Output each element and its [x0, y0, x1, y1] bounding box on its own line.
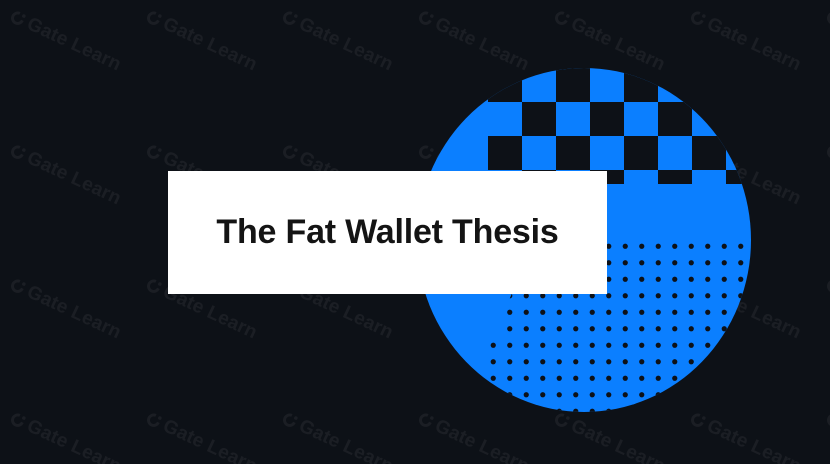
watermark-label: Gate Learn: [568, 14, 668, 74]
watermark-tile: Gate Learn: [414, 408, 532, 464]
watermark-label: Gate Learn: [704, 14, 804, 74]
page-title: The Fat Wallet Thesis: [216, 214, 558, 251]
gate-logo-icon: [414, 409, 437, 432]
watermark-label: Gate Learn: [24, 14, 124, 74]
title-card: The Fat Wallet Thesis: [168, 171, 607, 294]
watermark-tile: Gate Learn: [6, 140, 124, 208]
gate-logo-icon: [142, 275, 165, 298]
gate-logo-icon: [278, 141, 301, 164]
watermark-tile: Gate Learn: [822, 274, 830, 342]
watermark-tile: Gate Learn: [822, 408, 830, 464]
watermark-tile: Gate Learn: [822, 6, 830, 74]
gate-logo-icon: [142, 409, 165, 432]
gate-logo-icon: [142, 7, 165, 30]
watermark-tile: Gate Learn: [550, 6, 668, 74]
watermark-label: Gate Learn: [568, 416, 668, 464]
gate-logo-icon: [686, 409, 709, 432]
slide-canvas: Gate LearnGate LearnGate LearnGate Learn…: [0, 0, 830, 464]
watermark-tile: Gate Learn: [686, 408, 804, 464]
gate-logo-icon: [822, 275, 830, 298]
gate-logo-icon: [686, 7, 709, 30]
watermark-label: Gate Learn: [160, 416, 260, 464]
watermark-tile: Gate Learn: [6, 274, 124, 342]
gate-logo-icon: [414, 7, 437, 30]
watermark-label: Gate Learn: [24, 282, 124, 342]
gate-logo-icon: [278, 7, 301, 30]
watermark-tile: Gate Learn: [6, 408, 124, 464]
watermark-label: Gate Learn: [432, 416, 532, 464]
watermark-tile: Gate Learn: [278, 408, 396, 464]
gate-logo-icon: [550, 409, 573, 432]
watermark-tile: Gate Learn: [6, 6, 124, 74]
watermark-label: Gate Learn: [24, 148, 124, 208]
gate-logo-icon: [278, 409, 301, 432]
gate-logo-icon: [6, 409, 29, 432]
watermark-label: Gate Learn: [296, 14, 396, 74]
watermark-tile: Gate Learn: [142, 408, 260, 464]
gate-logo-icon: [822, 141, 830, 164]
gate-logo-icon: [142, 141, 165, 164]
checkerboard-pattern: [488, 68, 752, 184]
watermark-tile: Gate Learn: [414, 6, 532, 74]
watermark-label: Gate Learn: [296, 416, 396, 464]
watermark-tile: Gate Learn: [142, 6, 260, 74]
gate-logo-icon: [6, 275, 29, 298]
gate-logo-icon: [822, 7, 830, 30]
gate-logo-icon: [822, 409, 830, 432]
gate-logo-icon: [550, 7, 573, 30]
watermark-tile: Gate Learn: [550, 408, 668, 464]
watermark-label: Gate Learn: [704, 416, 804, 464]
gate-logo-icon: [6, 141, 29, 164]
watermark-tile: Gate Learn: [822, 140, 830, 208]
watermark-tile: Gate Learn: [686, 6, 804, 74]
gate-logo-icon: [6, 7, 29, 30]
watermark-label: Gate Learn: [160, 14, 260, 74]
watermark-tile: Gate Learn: [278, 6, 396, 74]
watermark-label: Gate Learn: [432, 14, 532, 74]
watermark-label: Gate Learn: [24, 416, 124, 464]
